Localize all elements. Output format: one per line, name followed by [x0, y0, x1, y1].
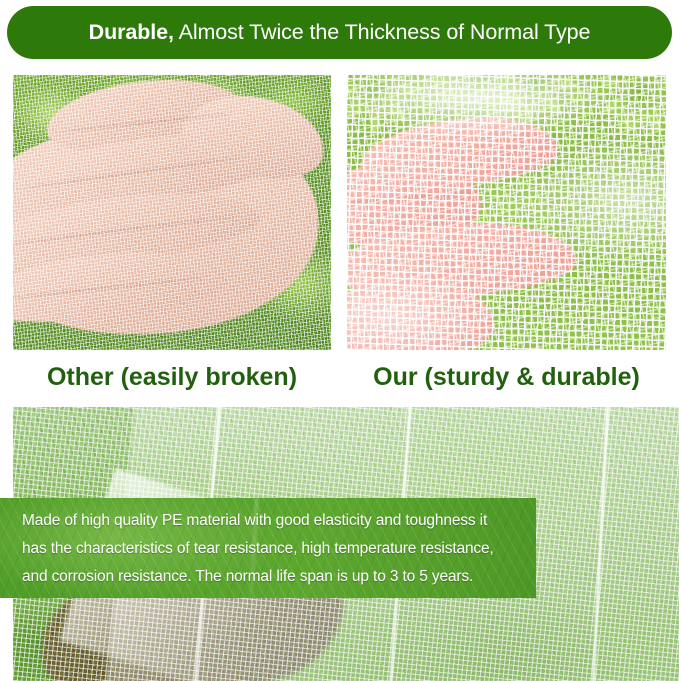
- header-title: Durable, Almost Twice the Thickness of N…: [89, 22, 591, 44]
- photo-other-thin-net: [13, 75, 331, 350]
- photo-our-thick-net: [347, 75, 666, 350]
- caption-other: Other (easily broken): [13, 357, 331, 397]
- description-text: Made of high quality PE material with go…: [22, 507, 520, 591]
- header-title-rest: Almost Twice the Thickness of Normal Typ…: [174, 20, 590, 44]
- header-banner: Durable, Almost Twice the Thickness of N…: [7, 6, 672, 59]
- comparison-photo-row: [0, 75, 679, 350]
- description-panel: Made of high quality PE material with go…: [0, 498, 536, 598]
- description-line-1: Made of high quality PE material with go…: [22, 507, 520, 535]
- header-title-bold: Durable,: [89, 20, 174, 44]
- fine-mesh-overlay-secondary: [13, 75, 331, 350]
- description-line-3: and corrosion resistance. The normal lif…: [22, 563, 520, 591]
- thick-mesh-overlay-secondary: [347, 75, 666, 350]
- comparison-captions: Other (easily broken) Our (sturdy & dura…: [0, 357, 679, 401]
- description-line-2: has the characteristics of tear resistan…: [22, 535, 520, 563]
- caption-our: Our (sturdy & durable): [347, 357, 666, 397]
